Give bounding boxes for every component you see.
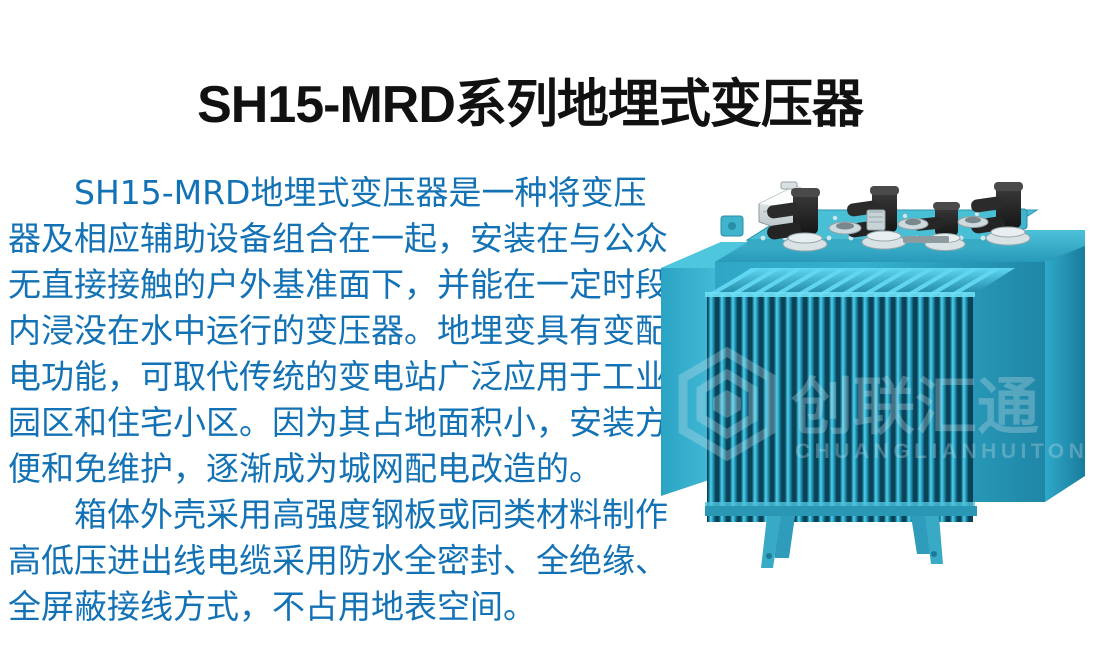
watermark-cn-text: 创联汇通 <box>791 370 1039 443</box>
product-banner: SH15-MRD系列地埋式变压器 SH15-MRD地埋式变压器是一种将变压器及相… <box>0 0 1100 651</box>
tank-right-face <box>1045 242 1085 502</box>
page-title: SH15-MRD系列地埋式变压器 <box>0 62 1060 137</box>
base-feet <box>705 506 977 568</box>
description-block: SH15-MRD地埋式变压器是一种将变压器及相应辅助设备组合在一起，安装在与公众… <box>8 170 668 630</box>
product-photo: 创联汇通 CHUANGLIANHUITONG <box>655 176 1085 606</box>
description-paragraph-1: SH15-MRD地埋式变压器是一种将变压器及相应辅助设备组合在一起，安装在与公众… <box>8 170 668 492</box>
description-paragraph-2: 箱体外壳采用高强度钢板或同类材料制作高低压进出线电缆采用防水全密封、全绝缘、全屏… <box>8 492 668 630</box>
watermark-en-text: CHUANGLIANHUITONG <box>795 440 1085 463</box>
